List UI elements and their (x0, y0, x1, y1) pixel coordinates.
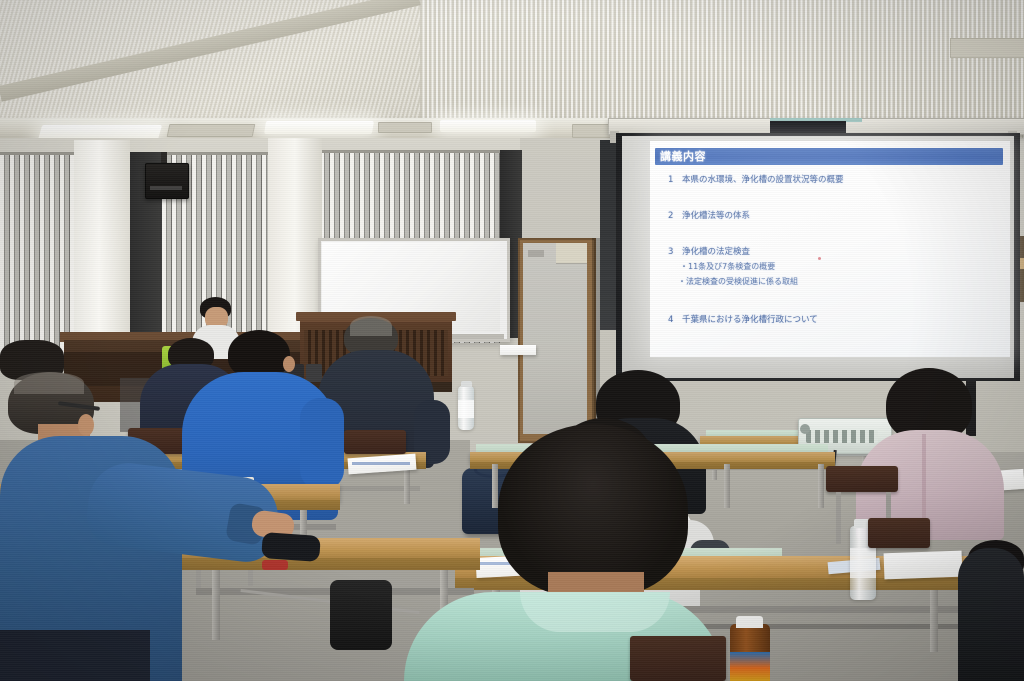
table-leg (492, 464, 498, 508)
projector-lens (800, 424, 810, 434)
slide-subitem: ・11条及び7条検査の概要 (680, 262, 775, 272)
attendee-shoulder (300, 398, 344, 490)
lecture-room-photo: 講義内容 1本県の水環境、浄化槽の設置状況等の概要 2浄化槽法等の体系 3浄化槽… (0, 0, 1024, 681)
slide-item-number: 2 (668, 211, 682, 222)
slide-item-text: 本県の水環境、浄化槽の設置状況等の概要 (682, 175, 844, 185)
ceiling-panel (950, 38, 1024, 58)
cabinet-label (528, 250, 544, 257)
blouse-seam (922, 434, 926, 530)
slide-item-3: 3浄化槽の法定検査 (668, 247, 750, 258)
slide-item-number: 4 (668, 315, 682, 326)
laser-pointer-dot (818, 257, 821, 260)
attendee-hair-grey (14, 372, 84, 394)
wall-speaker-icon (145, 163, 189, 199)
desk-object-red (262, 560, 288, 570)
polo-collar (520, 592, 670, 632)
bottle-label (850, 548, 876, 578)
paper-sheet (500, 345, 536, 355)
attendee-ear (283, 356, 295, 372)
handout-papers (884, 551, 963, 580)
table-leg (818, 464, 824, 508)
stacking-chair (630, 636, 726, 681)
paper-print-line (352, 462, 410, 465)
ceiling-vent (167, 124, 256, 137)
slide-item-text: 浄化槽法等の体系 (682, 211, 750, 221)
slide-subitem: ・法定検査の受検促進に係る取組 (678, 277, 798, 287)
slide-item-4: 4千葉県における浄化槽行政について (668, 315, 818, 326)
desk-object (306, 364, 322, 382)
attendee-hair (228, 330, 290, 378)
slide-item-1: 1本県の水環境、浄化槽の設置状況等の概要 (668, 175, 844, 186)
attendee-dark-right-edge (958, 548, 1024, 681)
fluorescent-light (264, 121, 374, 134)
attendee-lap (0, 630, 150, 681)
table-leg (930, 590, 938, 652)
slide-item-2: 2浄化槽法等の体系 (668, 211, 750, 222)
slide-item-text: 千葉県における浄化槽行政について (682, 315, 818, 325)
table-leg (212, 570, 220, 640)
table-leg (724, 464, 730, 508)
attendee-ear (78, 414, 94, 436)
attendee-hair-grey (350, 316, 392, 336)
stacking-chair (868, 518, 930, 548)
cabinet-top-panel (556, 243, 587, 264)
bottle-cap (461, 381, 472, 387)
bottle-label (458, 400, 474, 418)
vertical-blinds (0, 152, 78, 355)
slide-item-number: 1 (668, 175, 682, 186)
screen-housing-center (770, 121, 846, 133)
bag-black (330, 580, 392, 650)
stacking-chair (826, 466, 898, 492)
chair-leg (836, 492, 841, 544)
fluorescent-light (440, 120, 536, 132)
speaker-highlight (150, 186, 182, 190)
slide-title: 講義内容 (660, 150, 860, 164)
stacking-chair (344, 430, 406, 454)
ceiling-vent (378, 122, 432, 133)
wall-pillar (74, 140, 130, 355)
grey-cabinet (523, 243, 587, 434)
slide-item-text: 浄化槽の法定検査 (682, 247, 750, 257)
projector-ports (806, 430, 878, 443)
work-glove (261, 532, 321, 562)
bottle-cap (736, 616, 763, 628)
attendee-hair (498, 424, 688, 596)
slide-item-number: 3 (668, 247, 682, 258)
bottle-label (730, 652, 770, 681)
table-edge (180, 558, 480, 570)
